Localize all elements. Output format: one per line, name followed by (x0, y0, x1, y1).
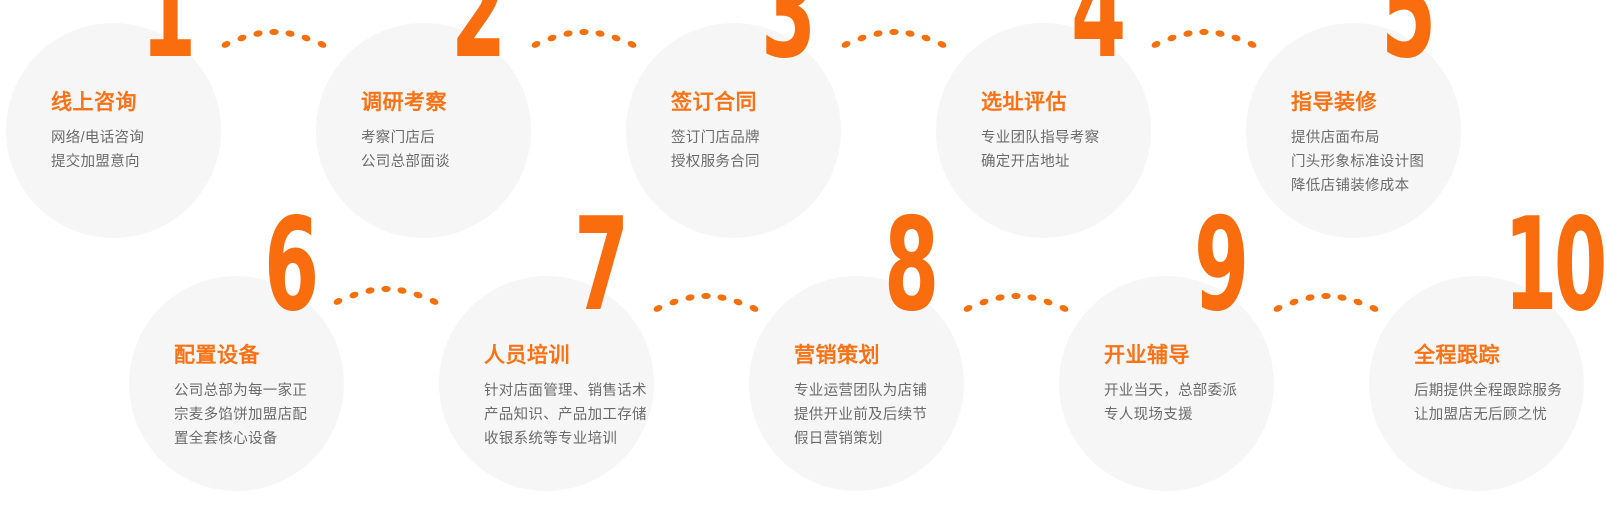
connector-dot (1183, 30, 1193, 38)
step-number: 7 (574, 202, 627, 330)
connector-dot (253, 30, 263, 38)
step-description: 开业当天，总部委派专人现场支援 (1104, 379, 1237, 427)
connector-dot (611, 34, 622, 43)
step-description: 针对店面管理、销售话术产品知识、产品加工存储收银系统等专业培训 (484, 379, 647, 451)
step-title: 调研考察 (361, 92, 450, 113)
connector-dot (733, 298, 744, 307)
connector-3-4 (823, 12, 965, 82)
step-description-line: 提供开业前及后续节 (794, 403, 927, 427)
step-text-block: 签订合同签订门店品牌授权服务合同 (671, 92, 760, 174)
connector-dot (1011, 293, 1020, 299)
connector-dot (1059, 304, 1070, 313)
connector-dot (963, 304, 974, 313)
connector-dot (221, 40, 232, 49)
step-text-block: 全程跟踪后期提供全程跟踪服务让加盟店无后顾之忧 (1414, 345, 1562, 427)
step-description-line: 公司总部为每一家正 (174, 379, 307, 403)
step-number: 8 (884, 202, 937, 330)
step-text-block: 营销策划专业运营团队为店铺提供开业前及后续节假日营销策划 (794, 345, 927, 451)
step-number: 3 (761, 0, 814, 77)
step-description: 网络/电话咨询提交加盟意向 (51, 126, 144, 174)
connector-dot (921, 34, 932, 43)
connector-dot (873, 30, 883, 38)
connector-dot (1151, 40, 1162, 49)
step-description-line: 网络/电话咨询 (51, 126, 144, 150)
connector-dot (349, 291, 360, 300)
step-description-line: 宗麦多馅饼加盟店配 (174, 403, 307, 427)
connector-dot (397, 287, 407, 295)
connector-dot (237, 34, 248, 43)
step-description-line: 专业团队指导考察 (981, 126, 1099, 150)
step-description: 签订门店品牌授权服务合同 (671, 126, 760, 174)
connector-dot (285, 30, 295, 38)
connector-1-2 (203, 12, 345, 82)
connector-9-10 (1255, 276, 1397, 346)
connector-dot (995, 294, 1005, 302)
step-title: 配置设备 (174, 345, 307, 366)
step-description: 后期提供全程跟踪服务让加盟店无后顾之忧 (1414, 379, 1562, 427)
step-number: 6 (264, 202, 317, 330)
connector-dot (749, 304, 760, 313)
step-text-block: 指导装修提供店面布局门头形象标准设计图降低店铺装修成本 (1291, 92, 1424, 198)
step-title: 开业辅导 (1104, 345, 1237, 366)
step-description-line: 授权服务合同 (671, 150, 760, 174)
step-title: 指导装修 (1291, 92, 1424, 113)
step-title: 人员培训 (484, 345, 647, 366)
step-title: 营销策划 (794, 345, 927, 366)
step-description: 公司总部为每一家正宗麦多馅饼加盟店配置全套核心设备 (174, 379, 307, 451)
connector-dot (1289, 298, 1300, 307)
connector-dot (531, 40, 542, 49)
connector-dot (429, 297, 440, 306)
step-text-block: 人员培训针对店面管理、销售话术产品知识、产品加工存储收银系统等专业培训 (484, 345, 647, 451)
step-description-line: 专人现场支援 (1104, 403, 1237, 427)
connector-dot (1247, 40, 1258, 49)
step-description-line: 降低店铺装修成本 (1291, 174, 1424, 198)
connector-dot (1337, 294, 1347, 302)
step-description-line: 收银系统等专业培训 (484, 427, 647, 451)
connector-dot (1369, 304, 1380, 313)
connector-dot (1043, 298, 1054, 307)
connector-dot (1231, 34, 1242, 43)
step-description-line: 后期提供全程跟踪服务 (1414, 379, 1562, 403)
step-description-line: 门头形象标准设计图 (1291, 150, 1424, 174)
connector-6-7 (315, 269, 457, 339)
connector-dot (653, 304, 664, 313)
step-number: 2 (451, 0, 504, 77)
connector-dot (937, 40, 948, 49)
step-description-line: 产品知识、产品加工存储 (484, 403, 647, 427)
step-number: 5 (1381, 0, 1434, 77)
step-number: 9 (1194, 202, 1247, 330)
connector-dot (841, 40, 852, 49)
franchise-process-flowchart: 1线上咨询网络/电话咨询提交加盟意向2调研考察考察门店后公司总部面谈3签订合同签… (0, 0, 1606, 508)
connector-7-8 (635, 276, 777, 346)
step-text-block: 选址评估专业团队指导考察确定开店地址 (981, 92, 1099, 174)
connector-dot (627, 40, 638, 49)
connector-dot (1305, 294, 1315, 302)
connector-dot (317, 40, 328, 49)
connector-dot (1215, 30, 1225, 38)
step-description-line: 专业运营团队为店铺 (794, 379, 927, 403)
connector-dot (905, 30, 915, 38)
connector-8-9 (945, 276, 1087, 346)
step-title: 选址评估 (981, 92, 1099, 113)
connector-dot (1321, 293, 1330, 299)
connector-dot (413, 291, 424, 300)
connector-dot (269, 29, 278, 35)
connector-dot (333, 297, 344, 306)
connector-dot (1273, 304, 1284, 313)
connector-dot (563, 30, 573, 38)
step-description-line: 针对店面管理、销售话术 (484, 379, 647, 403)
step-number: 4 (1071, 0, 1124, 77)
connector-dot (717, 294, 727, 302)
step-text-block: 线上咨询网络/电话咨询提交加盟意向 (51, 92, 144, 174)
step-description-line: 提供店面布局 (1291, 126, 1424, 150)
connector-2-3 (513, 12, 655, 82)
step-description-line: 提交加盟意向 (51, 150, 144, 174)
connector-dot (365, 287, 375, 295)
connector-dot (701, 293, 710, 299)
step-title: 全程跟踪 (1414, 345, 1562, 366)
step-description-line: 假日营销策划 (794, 427, 927, 451)
step-text-block: 开业辅导开业当天，总部委派专人现场支援 (1104, 345, 1237, 427)
step-title: 线上咨询 (51, 92, 144, 113)
step-text-block: 配置设备公司总部为每一家正宗麦多馅饼加盟店配置全套核心设备 (174, 345, 307, 451)
connector-dot (1027, 294, 1037, 302)
connector-4-5 (1133, 12, 1275, 82)
step-text-block: 调研考察考察门店后公司总部面谈 (361, 92, 450, 174)
step-description-line: 确定开店地址 (981, 150, 1099, 174)
connector-dot (595, 30, 605, 38)
connector-dot (1353, 298, 1364, 307)
connector-dot (857, 34, 868, 43)
connector-dot (979, 298, 990, 307)
step-number: 1 (141, 0, 194, 77)
step-title: 签订合同 (671, 92, 760, 113)
connector-dot (1199, 29, 1208, 35)
step-description-line: 签订门店品牌 (671, 126, 760, 150)
step-description: 专业团队指导考察确定开店地址 (981, 126, 1099, 174)
connector-dot (889, 29, 898, 35)
step-description-line: 让加盟店无后顾之忧 (1414, 403, 1562, 427)
step-description: 考察门店后公司总部面谈 (361, 126, 450, 174)
connector-dot (685, 294, 695, 302)
connector-dot (381, 286, 390, 292)
step-description-line: 公司总部面谈 (361, 150, 450, 174)
step-description: 专业运营团队为店铺提供开业前及后续节假日营销策划 (794, 379, 927, 451)
step-description-line: 考察门店后 (361, 126, 450, 150)
connector-dot (579, 29, 588, 35)
connector-dot (301, 34, 312, 43)
step-description-line: 置全套核心设备 (174, 427, 307, 451)
step-description: 提供店面布局门头形象标准设计图降低店铺装修成本 (1291, 126, 1424, 198)
step-description-line: 开业当天，总部委派 (1104, 379, 1237, 403)
connector-dot (1167, 34, 1178, 43)
connector-dot (547, 34, 558, 43)
connector-dot (669, 298, 680, 307)
step-number: 10 (1504, 202, 1604, 330)
